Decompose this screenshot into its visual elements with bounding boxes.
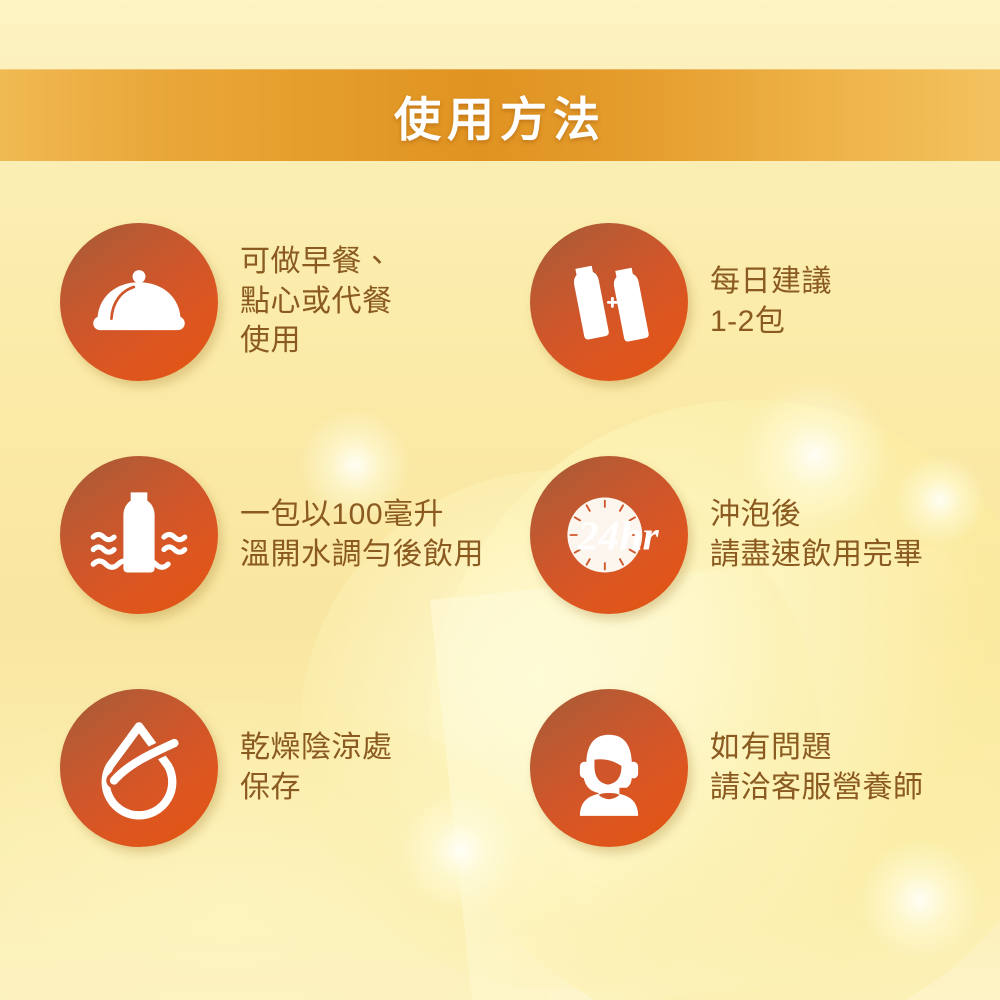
instruction-item-support: 如有問題 請洽客服營養師	[530, 651, 1000, 884]
customer-service-headset-icon	[557, 716, 661, 820]
instruction-text: 可做早餐、 點心或代餐 使用	[240, 242, 393, 362]
instruction-text: 乾燥陰涼處 保存	[240, 728, 393, 808]
badge-circle	[530, 223, 688, 381]
instruction-text: 沖泡後 請盡速飲用完畢	[710, 495, 924, 575]
bottle-water-waves-icon	[87, 483, 191, 587]
instruction-grid: 可做早餐、 點心或代餐 使用 每日建議 1-2包	[0, 185, 1000, 885]
instruction-text: 如有問題 請洽客服營養師	[710, 728, 924, 808]
instruction-item-drink-soon: 24hr 沖泡後 請盡速飲用完畢	[530, 418, 1000, 651]
badge-circle: 24hr	[530, 456, 688, 614]
clock-24hr-label: 24hr	[577, 512, 660, 558]
food-cloche-icon	[87, 250, 191, 354]
instruction-text: 一包以100毫升 溫開水調勻後飲用	[240, 495, 484, 575]
badge-circle	[60, 689, 218, 847]
usage-instructions-poster: 使用方法 可做早餐、 點心或代餐 使用	[0, 0, 1000, 1000]
clock-24hr-icon: 24hr	[557, 483, 661, 587]
no-moisture-droplet-icon	[87, 716, 191, 820]
badge-circle	[60, 456, 218, 614]
instruction-item-dissolve: 一包以100毫升 溫開水調勻後飲用	[60, 418, 530, 651]
page-title: 使用方法	[394, 81, 606, 150]
badge-circle	[530, 689, 688, 847]
instruction-item-breakfast: 可做早餐、 點心或代餐 使用	[60, 185, 530, 418]
title-banner: 使用方法	[0, 69, 1000, 161]
instruction-item-daily-dose: 每日建議 1-2包	[530, 185, 1000, 418]
instruction-text: 每日建議 1-2包	[710, 262, 832, 342]
instruction-item-storage: 乾燥陰涼處 保存	[60, 651, 530, 884]
badge-circle	[60, 223, 218, 381]
two-sachets-plus-icon	[557, 250, 661, 354]
